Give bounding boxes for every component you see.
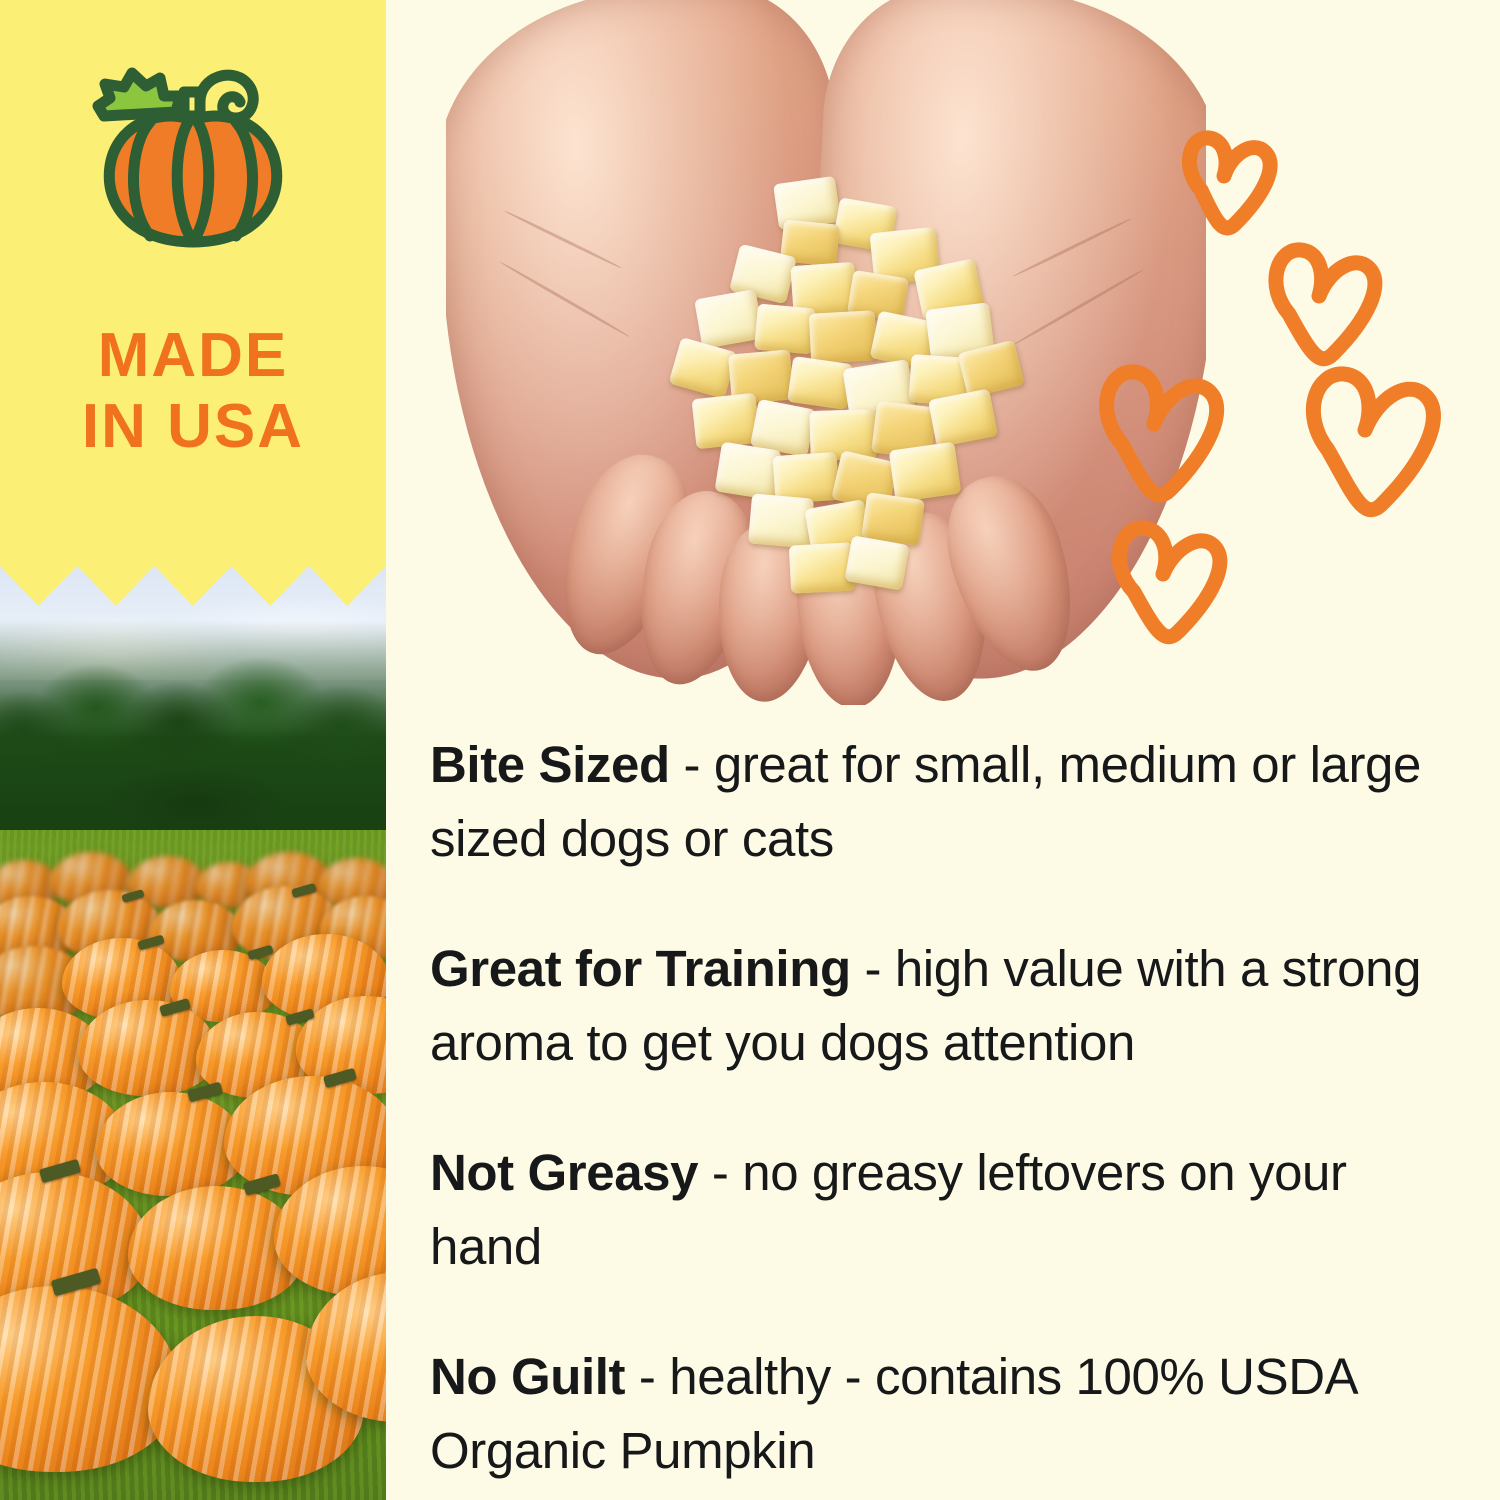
left-column: MADE IN USA	[0, 0, 386, 1500]
heart-icon	[1119, 528, 1220, 637]
feature-term: No Guilt	[430, 1348, 625, 1405]
product-feature-panel: MADE IN USA	[0, 0, 1500, 1500]
heart-icon	[1276, 250, 1375, 359]
feature-item-not-greasy: Not Greasy - no greasy leftovers on your…	[430, 1136, 1460, 1284]
heart-cluster	[386, 0, 1500, 705]
feature-item-no-guilt: No Guilt - healthy - contains 100% USDA …	[430, 1340, 1460, 1488]
feature-list: Bite Sized - great for small, medium or …	[430, 728, 1460, 1488]
feature-term: Great for Training	[430, 940, 851, 997]
main-content-area: Bite Sized - great for small, medium or …	[386, 0, 1500, 1500]
feature-term: Bite Sized	[430, 736, 670, 793]
badge-line-2: IN USA	[0, 391, 386, 462]
feature-item-bite-sized: Bite Sized - great for small, medium or …	[430, 728, 1460, 876]
made-in-usa-text: MADE IN USA	[0, 320, 386, 463]
heart-icon	[1189, 138, 1270, 228]
pumpkin-patch-photo	[0, 560, 386, 1500]
heart-icon	[1107, 372, 1217, 495]
heart-icon	[1313, 374, 1433, 510]
photo-treeline	[0, 620, 386, 865]
zigzag-divider	[0, 560, 386, 606]
pumpkin-icon	[80, 56, 306, 282]
feature-item-great-for-training: Great for Training - high value with a s…	[430, 932, 1460, 1080]
badge-line-1: MADE	[0, 320, 386, 391]
feature-term: Not Greasy	[430, 1144, 698, 1201]
made-in-usa-badge-panel: MADE IN USA	[0, 0, 386, 600]
